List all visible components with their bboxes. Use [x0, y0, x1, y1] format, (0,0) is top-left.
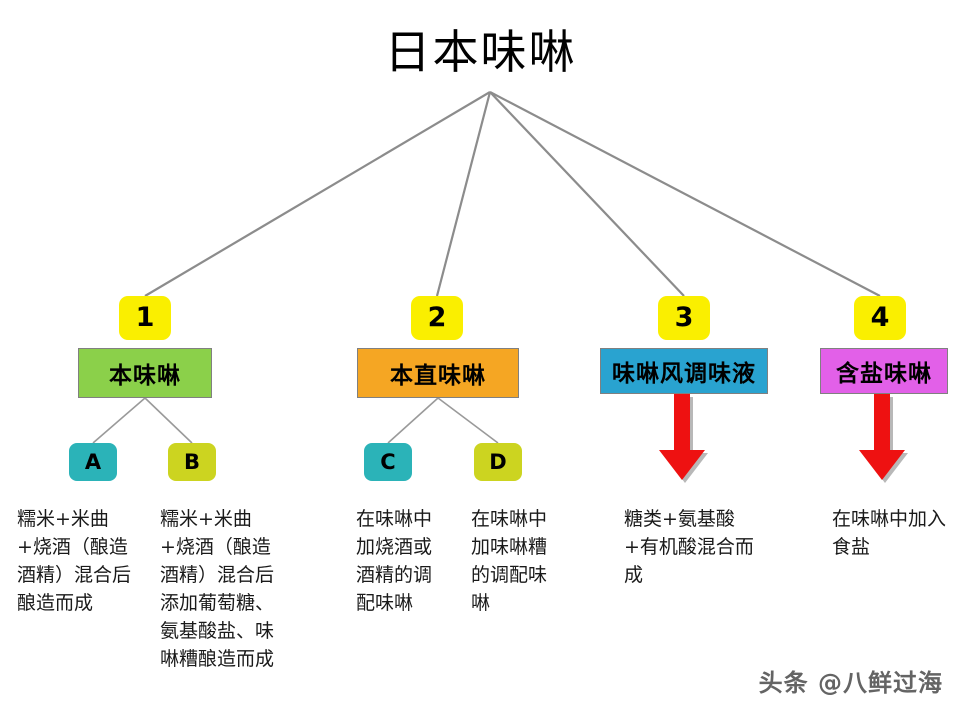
- connector-2-to-d: [438, 398, 498, 443]
- description-a: 糯米+米曲+烧酒（酿造酒精）混合后酿造而成: [17, 505, 141, 617]
- connector-root-to-3: [490, 92, 684, 296]
- diagram-canvas: 日本味啉 1 本味啉 A B 糯米+米曲+烧酒（酿造酒精）混合后酿造而成 糯米+…: [0, 0, 961, 722]
- connector-2-to-c: [388, 398, 438, 443]
- description-3: 糖类+氨基酸+有机酸混合而成: [624, 505, 764, 589]
- connector-root-to-2: [437, 92, 490, 296]
- down-arrow-4: [855, 394, 915, 490]
- connector-1-to-a: [93, 398, 145, 443]
- number-badge-2[interactable]: 2: [411, 296, 463, 340]
- category-box-4[interactable]: 含盐味啉: [820, 348, 948, 394]
- category-box-2[interactable]: 本直味啉: [357, 348, 519, 398]
- page-title: 日本味啉: [0, 24, 961, 80]
- description-d: 在味啉中加味啉糟的调配味啉: [471, 505, 563, 617]
- connector-1-to-b: [145, 398, 192, 443]
- description-b: 糯米+米曲+烧酒（酿造酒精）混合后添加葡萄糖、氨基酸盐、味啉糟酿造而成: [160, 505, 284, 673]
- category-box-3[interactable]: 味啉风调味液: [600, 348, 768, 394]
- number-badge-1[interactable]: 1: [119, 296, 171, 340]
- letter-badge-b[interactable]: B: [168, 443, 216, 481]
- letter-badge-c[interactable]: C: [364, 443, 412, 481]
- description-4: 在味啉中加入食盐: [832, 505, 952, 561]
- letter-badge-a[interactable]: A: [69, 443, 117, 481]
- letter-badge-d[interactable]: D: [474, 443, 522, 481]
- watermark: 头条 @八鲜过海: [759, 663, 943, 698]
- connector-root-to-4: [490, 92, 880, 296]
- number-badge-4[interactable]: 4: [854, 296, 906, 340]
- number-badge-3[interactable]: 3: [658, 296, 710, 340]
- connector-root-to-1: [145, 92, 490, 296]
- down-arrow-3: [655, 394, 715, 490]
- category-box-1[interactable]: 本味啉: [78, 348, 212, 398]
- description-c: 在味啉中加烧酒或酒精的调配味啉: [356, 505, 448, 617]
